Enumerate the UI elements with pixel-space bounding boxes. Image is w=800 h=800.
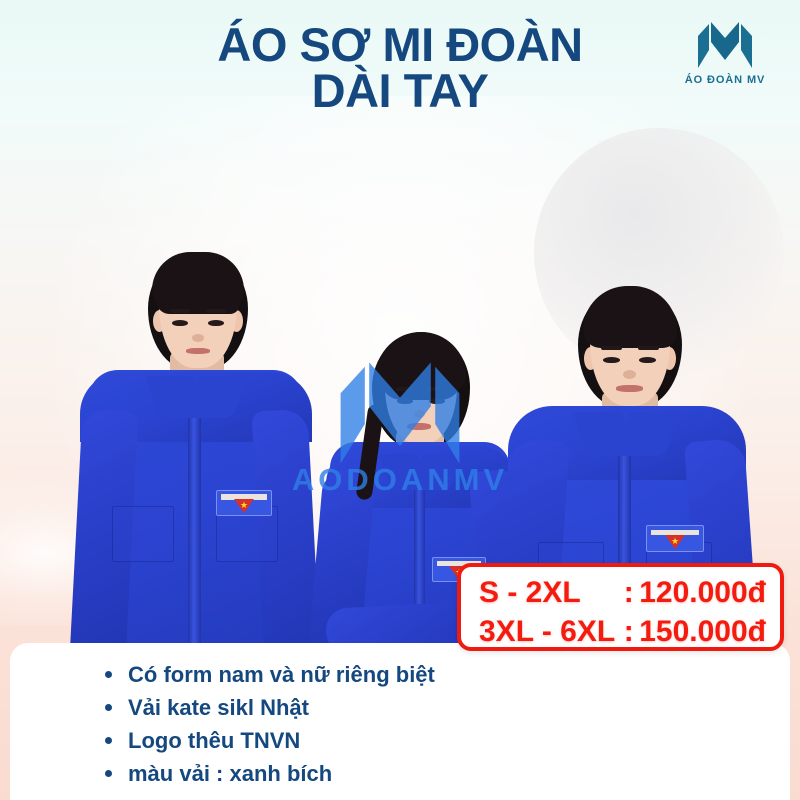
price-size-range: S - 2XL [479, 573, 624, 612]
feature-label: Vải kate sikl Nhật [128, 692, 309, 723]
nose-center [414, 410, 425, 418]
brow-right-right [638, 346, 659, 350]
poster-root: ★ [0, 0, 800, 800]
tnvn-badge-right: ★ [646, 525, 704, 552]
eye-right-left [208, 320, 224, 326]
nose-right [623, 370, 636, 379]
list-item: Logo thêu TNVN [105, 725, 435, 756]
mouth-left [186, 348, 210, 354]
tnvn-badge-left: ★ [216, 490, 272, 516]
brow-left-left [170, 309, 190, 313]
bullet-dot-icon [105, 770, 112, 777]
m-monogram-icon [670, 20, 780, 70]
mouth-right [616, 385, 643, 392]
shirt-placket-center [414, 474, 425, 604]
hair-fringe-center [380, 368, 462, 400]
price-row: 3XL - 6XL : 150.000đ [479, 612, 766, 651]
feature-label: Logo thêu TNVN [128, 725, 300, 756]
price-separator: : [624, 612, 639, 651]
hair-top-right [583, 286, 677, 348]
brand-logo[interactable]: ÁO ĐOÀN MV [670, 20, 780, 86]
brand-name: ÁO ĐOÀN MV [670, 74, 780, 86]
hair-fringe-left [156, 288, 240, 314]
pocket-left-left [112, 506, 174, 562]
bullet-dot-icon [105, 737, 112, 744]
list-item: Có form nam và nữ riêng biệt [105, 659, 435, 690]
badge-star-icon: ★ [240, 501, 248, 510]
price-value: 120.000đ [639, 573, 766, 612]
price-size-range: 3XL - 6XL [479, 612, 624, 651]
features-panel: Có form nam và nữ riêng biệt Vải kate si… [10, 643, 790, 800]
price-value: 150.000đ [639, 612, 766, 651]
brow-right-left [206, 309, 226, 313]
bullet-dot-icon [105, 704, 112, 711]
features-list: Có form nam và nữ riêng biệt Vải kate si… [105, 659, 435, 791]
brow-right-center [428, 387, 446, 391]
price-row: S - 2XL : 120.000đ [479, 573, 766, 612]
eye-right-center [429, 398, 445, 404]
eye-left-center [397, 398, 413, 404]
badge-star-icon: ★ [671, 537, 679, 546]
brow-left-center [396, 387, 414, 391]
price-separator: : [624, 573, 639, 612]
nose-left [192, 334, 204, 342]
eye-left-right [603, 357, 620, 363]
mouth-center [407, 423, 431, 430]
list-item: màu vải : xanh bích [105, 758, 435, 789]
list-item: Vải kate sikl Nhật [105, 692, 435, 723]
bullet-dot-icon [105, 671, 112, 678]
feature-label: màu vải : xanh bích [128, 758, 332, 789]
feature-label: Có form nam và nữ riêng biệt [128, 659, 435, 690]
brow-left-right [601, 346, 622, 350]
price-box: S - 2XL : 120.000đ 3XL - 6XL : 150.000đ [457, 563, 784, 651]
eye-left-left [172, 320, 188, 326]
eye-right-right [639, 357, 656, 363]
